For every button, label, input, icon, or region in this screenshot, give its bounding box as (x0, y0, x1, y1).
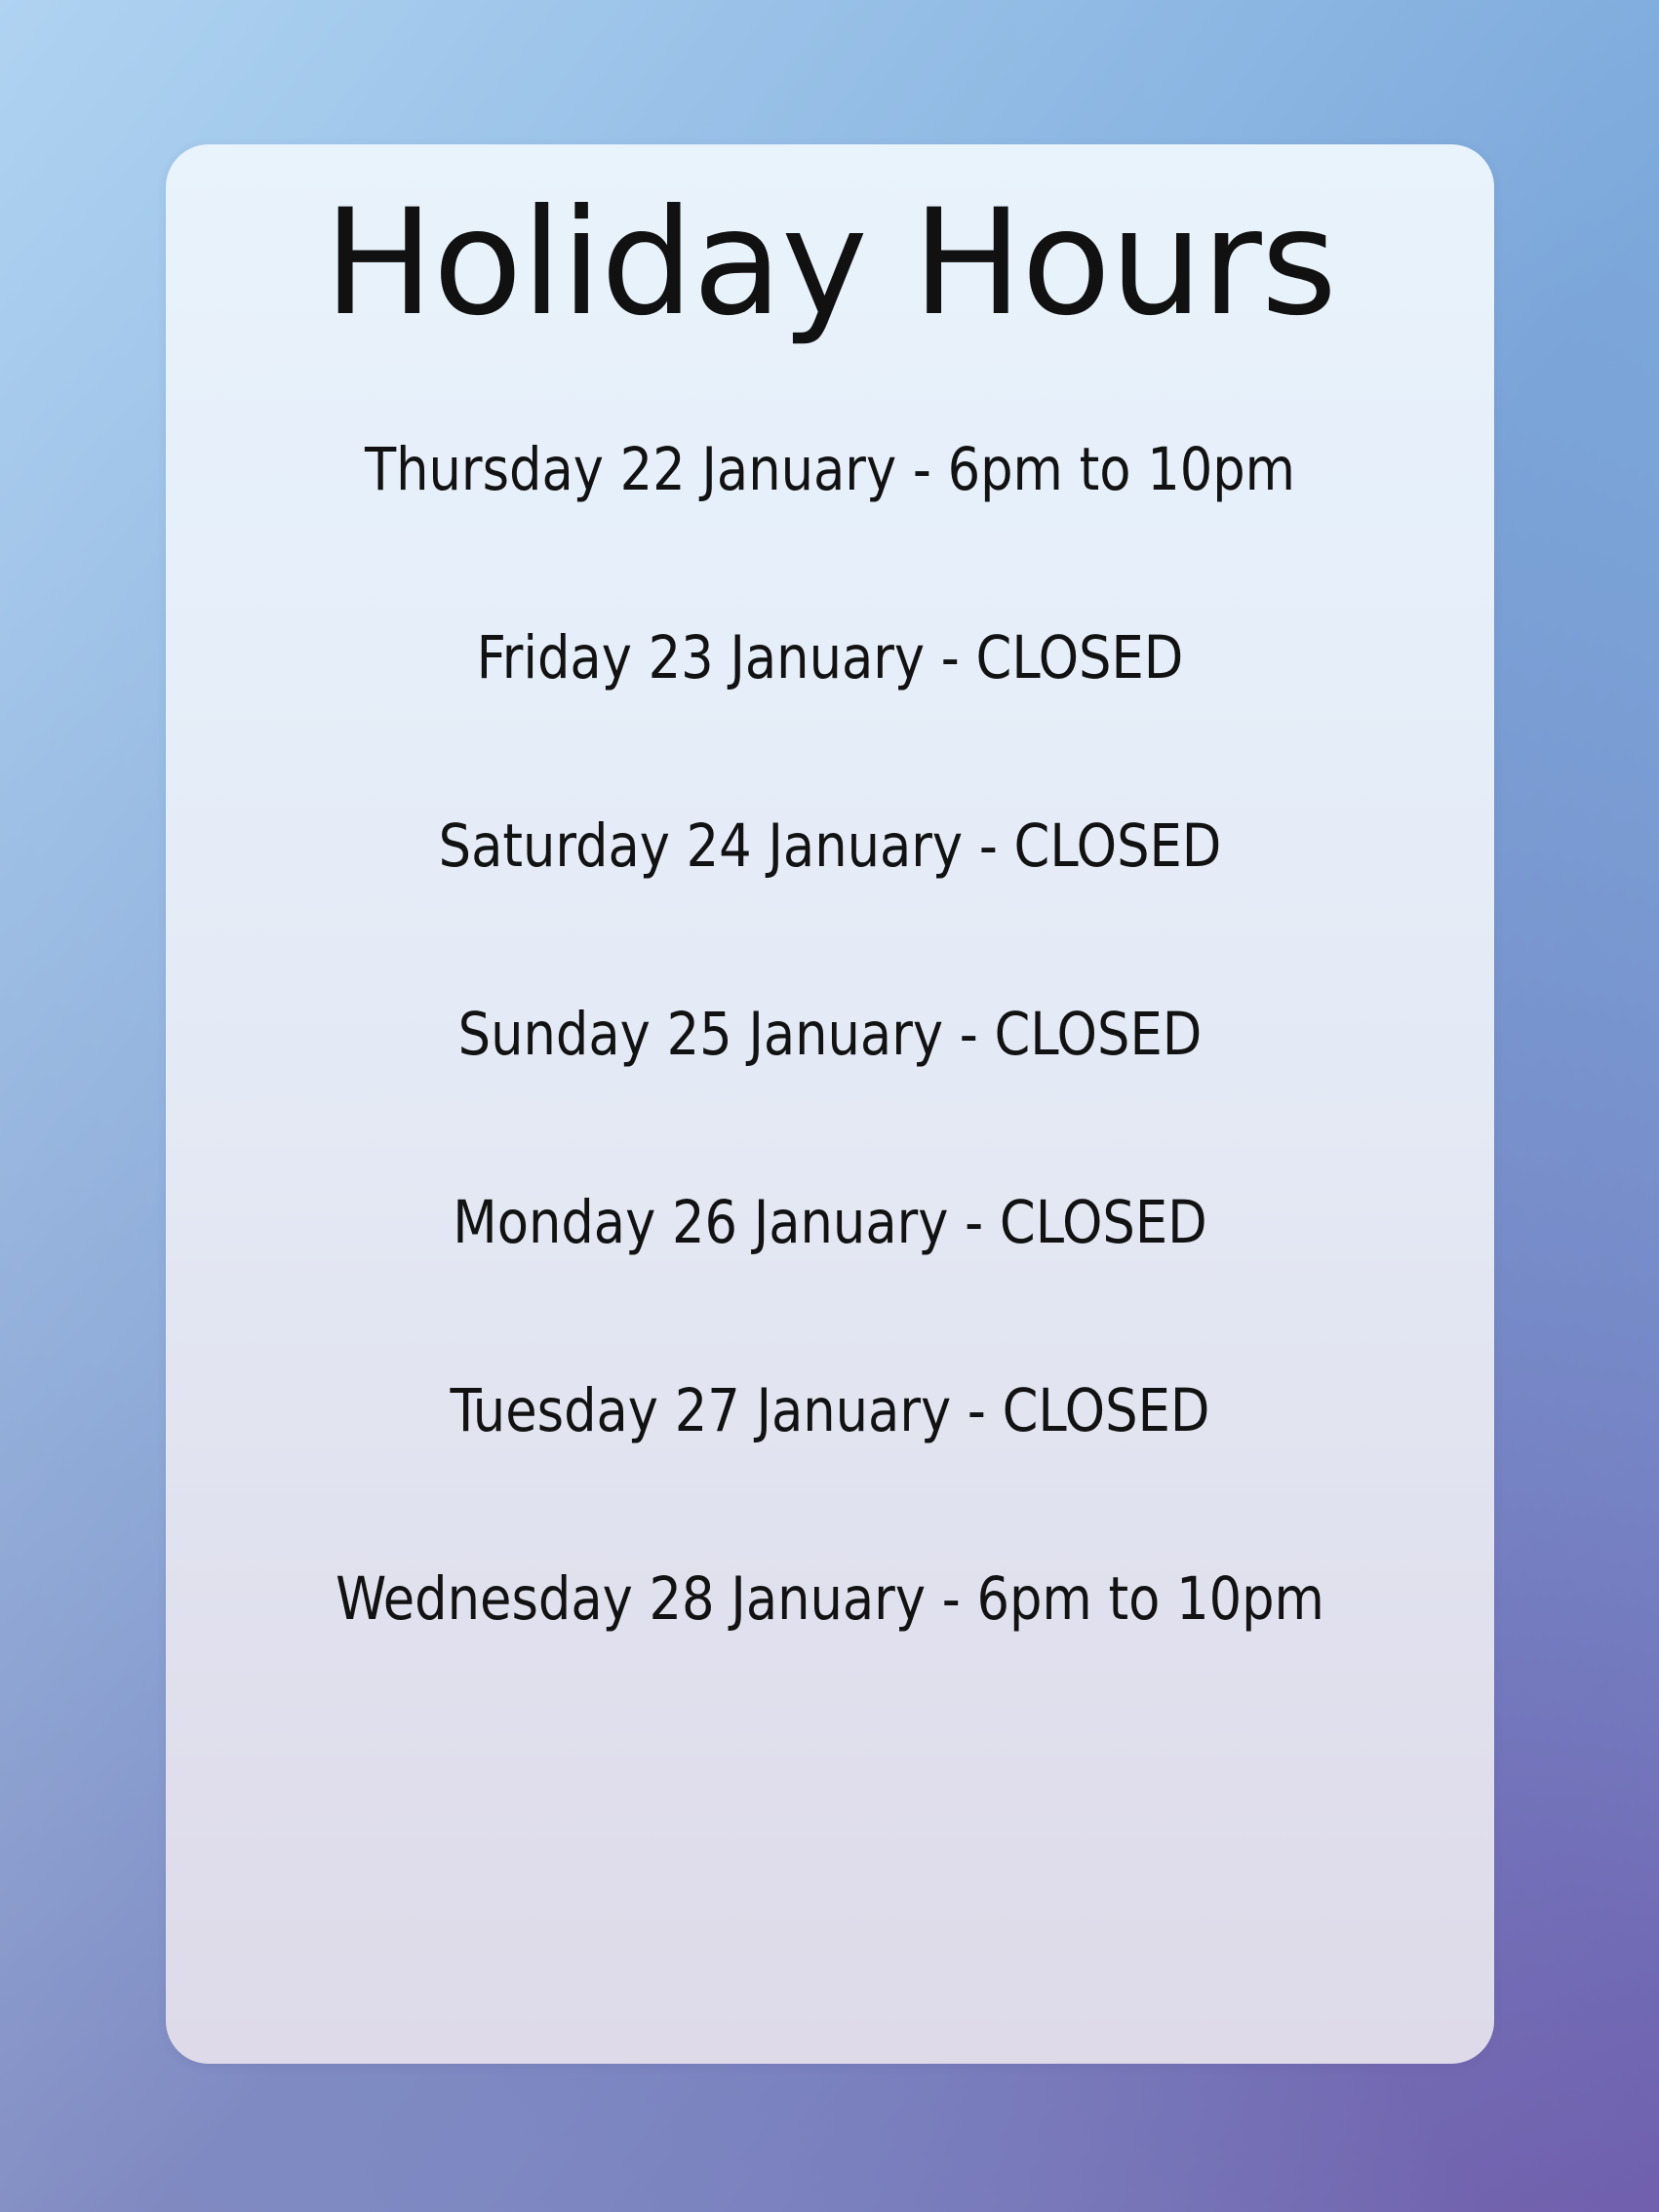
holiday-hours-poster: Holiday Hours Thursday 22 January - 6pm … (0, 0, 1659, 2212)
list-item: Friday 23 January - CLOSED (192, 627, 1468, 690)
list-item: Tuesday 27 January - CLOSED (192, 1380, 1468, 1442)
hours-card: Holiday Hours Thursday 22 January - 6pm … (166, 144, 1494, 2064)
hours-list: Thursday 22 January - 6pm to 10pm Friday… (166, 345, 1494, 1631)
list-item: Wednesday 28 January - 6pm to 10pm (192, 1568, 1468, 1631)
list-item: Monday 26 January - CLOSED (192, 1192, 1468, 1254)
page-title: Holiday Hours (166, 144, 1494, 345)
list-item: Thursday 22 January - 6pm to 10pm (192, 439, 1468, 501)
hours-card-content: Holiday Hours Thursday 22 January - 6pm … (166, 144, 1494, 1631)
list-item: Sunday 25 January - CLOSED (192, 1004, 1468, 1066)
list-item: Saturday 24 January - CLOSED (192, 815, 1468, 878)
